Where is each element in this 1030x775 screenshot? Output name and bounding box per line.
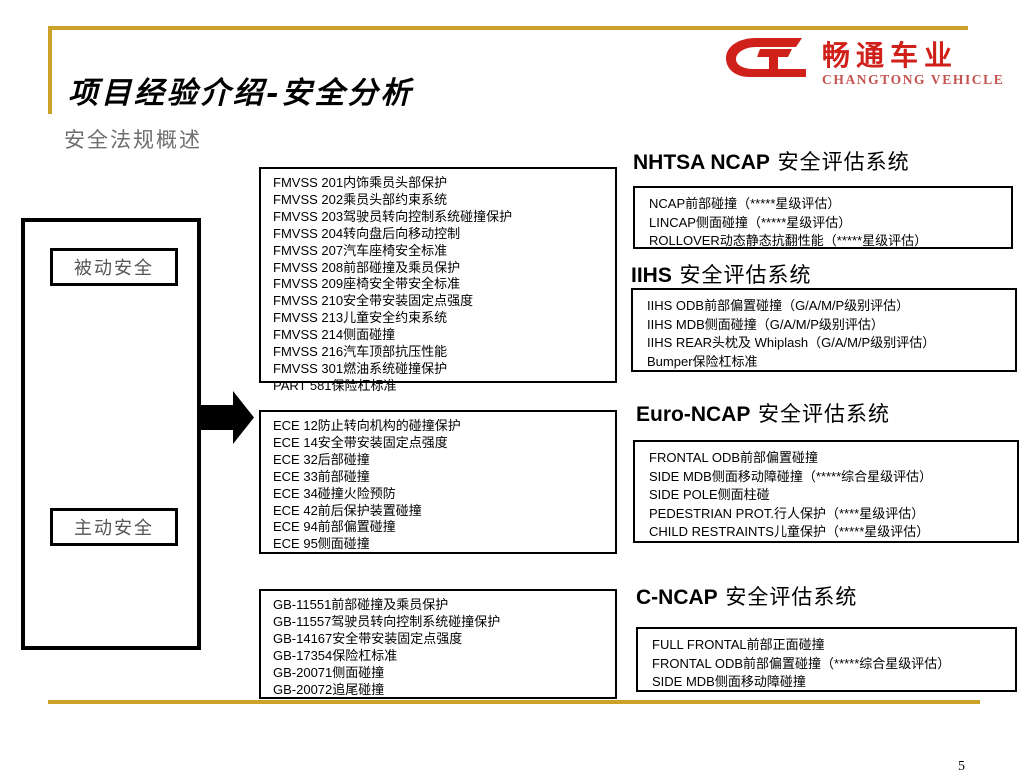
system-heading-euro-ncap: Euro-NCAP 安全评估系统 — [636, 398, 890, 428]
logo-name-cn: 畅通车业 — [822, 34, 958, 74]
changtong-logo-mark-icon — [726, 36, 808, 78]
system-line: SIDE MDB侧面移动障碰撞 — [652, 673, 1015, 692]
system-heading-en: IIHS — [631, 264, 672, 287]
regulation-line: FMVSS 213儿童安全约束系统 — [273, 310, 615, 327]
system-line: Bumper保险杠标准 — [647, 353, 1015, 372]
regulation-line: ECE 94前部偏置碰撞 — [273, 519, 615, 536]
regulation-line: GB-20071侧面碰撞 — [273, 665, 615, 682]
regulation-line: GB-17354保险杠标准 — [273, 648, 615, 665]
gold-rule-left — [48, 26, 52, 114]
regulation-line: FMVSS 207汽车座椅安全标准 — [273, 243, 615, 260]
category-box-active-safety[interactable]: 主动安全 — [50, 508, 178, 546]
system-line: IIHS MDB侧面碰撞（G/A/M/P级别评估） — [647, 316, 1015, 335]
regulation-line: FMVSS 214侧面碰撞 — [273, 327, 615, 344]
system-line: FULL FRONTAL前部正面碰撞 — [652, 636, 1015, 655]
system-box-c-ncap: FULL FRONTAL前部正面碰撞 FRONTAL ODB前部偏置碰撞（***… — [636, 627, 1017, 692]
gold-rule-bottom — [48, 700, 980, 704]
system-line: CHILD RESTRAINTS儿童保护（*****星级评估） — [649, 523, 1017, 542]
regulation-line: FMVSS 301燃油系统碰撞保护 — [273, 361, 615, 378]
system-line: FRONTAL ODB前部偏置碰撞（*****综合星级评估） — [652, 655, 1015, 674]
system-heading-cn: 安全评估系统 — [770, 150, 910, 174]
regulation-line: FMVSS 201内饰乘员头部保护 — [273, 175, 615, 192]
slide-canvas: 项目经验介绍-安全分析 安全法规概述 畅通车业 CHANGTONG VEHICL… — [0, 0, 1030, 775]
regulation-line: GB-14167安全带安装固定点强度 — [273, 631, 615, 648]
system-box-iihs: IIHS ODB前部偏置碰撞（G/A/M/P级别评估） IIHS MDB侧面碰撞… — [631, 288, 1017, 372]
regulation-line: ECE 42前后保护装置碰撞 — [273, 503, 615, 520]
system-box-euro-ncap: FRONTAL ODB前部偏置碰撞 SIDE MDB侧面移动障碰撞（*****综… — [633, 440, 1019, 543]
system-heading-en: NHTSA NCAP — [633, 151, 770, 174]
regulation-line: GB-20072追尾碰撞 — [273, 682, 615, 699]
system-heading-en: Euro-NCAP — [636, 403, 750, 426]
system-line: SIDE MDB侧面移动障碰撞（*****综合星级评估） — [649, 468, 1017, 487]
regulation-line: ECE 12防止转向机构的碰撞保护 — [273, 418, 615, 435]
system-heading-cn: 安全评估系统 — [672, 263, 812, 287]
regulation-line: FMVSS 203驾驶员转向控制系统碰撞保护 — [273, 209, 615, 226]
regulation-line: FMVSS 209座椅安全带安全标准 — [273, 276, 615, 293]
regulation-line: FMVSS 204转向盘后向移动控制 — [273, 226, 615, 243]
system-box-nhtsa: NCAP前部碰撞（*****星级评估） LINCAP侧面碰撞（*****星级评估… — [633, 186, 1013, 249]
system-line: ROLLOVER动态静态抗翻性能（*****星级评估） — [649, 232, 1011, 251]
system-line: NCAP前部碰撞（*****星级评估） — [649, 195, 1011, 214]
regulation-line: ECE 14安全带安装固定点强度 — [273, 435, 615, 452]
category-label: 主动安全 — [74, 514, 154, 540]
regulation-line: ECE 34碰撞火险预防 — [273, 486, 615, 503]
system-heading-nhtsa: NHTSA NCAP 安全评估系统 — [633, 146, 910, 176]
regulation-line: ECE 33前部碰撞 — [273, 469, 615, 486]
category-box-passive-safety[interactable]: 被动安全 — [50, 248, 178, 286]
system-heading-iihs: IIHS 安全评估系统 — [631, 259, 812, 289]
system-heading-c-ncap: C-NCAP 安全评估系统 — [636, 581, 857, 611]
right-arrow-icon — [200, 391, 254, 444]
logo-name-en: CHANGTONG VEHICLE — [822, 72, 1004, 88]
regulation-line: FMVSS 210安全带安装固定点强度 — [273, 293, 615, 310]
regulation-box-fmvss: FMVSS 201内饰乘员头部保护 FMVSS 202乘员头部约束系统 FMVS… — [259, 167, 617, 383]
company-logo: 畅通车业 CHANGTONG VEHICLE — [726, 34, 976, 92]
category-label: 被动安全 — [74, 254, 154, 280]
regulation-box-gb: GB-11551前部碰撞及乘员保护 GB-11557驾驶员转向控制系统碰撞保护 … — [259, 589, 617, 699]
page-number: 5 — [958, 759, 965, 775]
regulation-line: PART 581保险杠标准 — [273, 378, 615, 395]
regulation-line: ECE 32后部碰撞 — [273, 452, 615, 469]
system-line: PEDESTRIAN PROT.行人保护（****星级评估） — [649, 505, 1017, 524]
system-line: IIHS ODB前部偏置碰撞（G/A/M/P级别评估） — [647, 297, 1015, 316]
regulation-line: FMVSS 202乘员头部约束系统 — [273, 192, 615, 209]
system-heading-en: C-NCAP — [636, 586, 718, 609]
system-heading-cn: 安全评估系统 — [718, 585, 858, 609]
regulation-box-ece: ECE 12防止转向机构的碰撞保护 ECE 14安全带安装固定点强度 ECE 3… — [259, 410, 617, 554]
system-line: FRONTAL ODB前部偏置碰撞 — [649, 449, 1017, 468]
regulation-line: FMVSS 216汽车顶部抗压性能 — [273, 344, 615, 361]
regulation-line: GB-11551前部碰撞及乘员保护 — [273, 597, 615, 614]
system-heading-cn: 安全评估系统 — [750, 402, 890, 426]
regulation-line: GB-11557驾驶员转向控制系统碰撞保护 — [273, 614, 615, 631]
gold-rule-top — [48, 26, 968, 30]
system-line: IIHS REAR头枕及 Whiplash（G/A/M/P级别评估） — [647, 334, 1015, 353]
system-line: SIDE POLE侧面柱碰 — [649, 486, 1017, 505]
regulation-line: FMVSS 208前部碰撞及乘员保护 — [273, 260, 615, 277]
regulation-line: ECE 95侧面碰撞 — [273, 536, 615, 553]
slide-subtitle: 安全法规概述 — [64, 124, 202, 154]
slide-title: 项目经验介绍-安全分析 — [68, 68, 413, 112]
system-line: LINCAP侧面碰撞（*****星级评估） — [649, 214, 1011, 233]
